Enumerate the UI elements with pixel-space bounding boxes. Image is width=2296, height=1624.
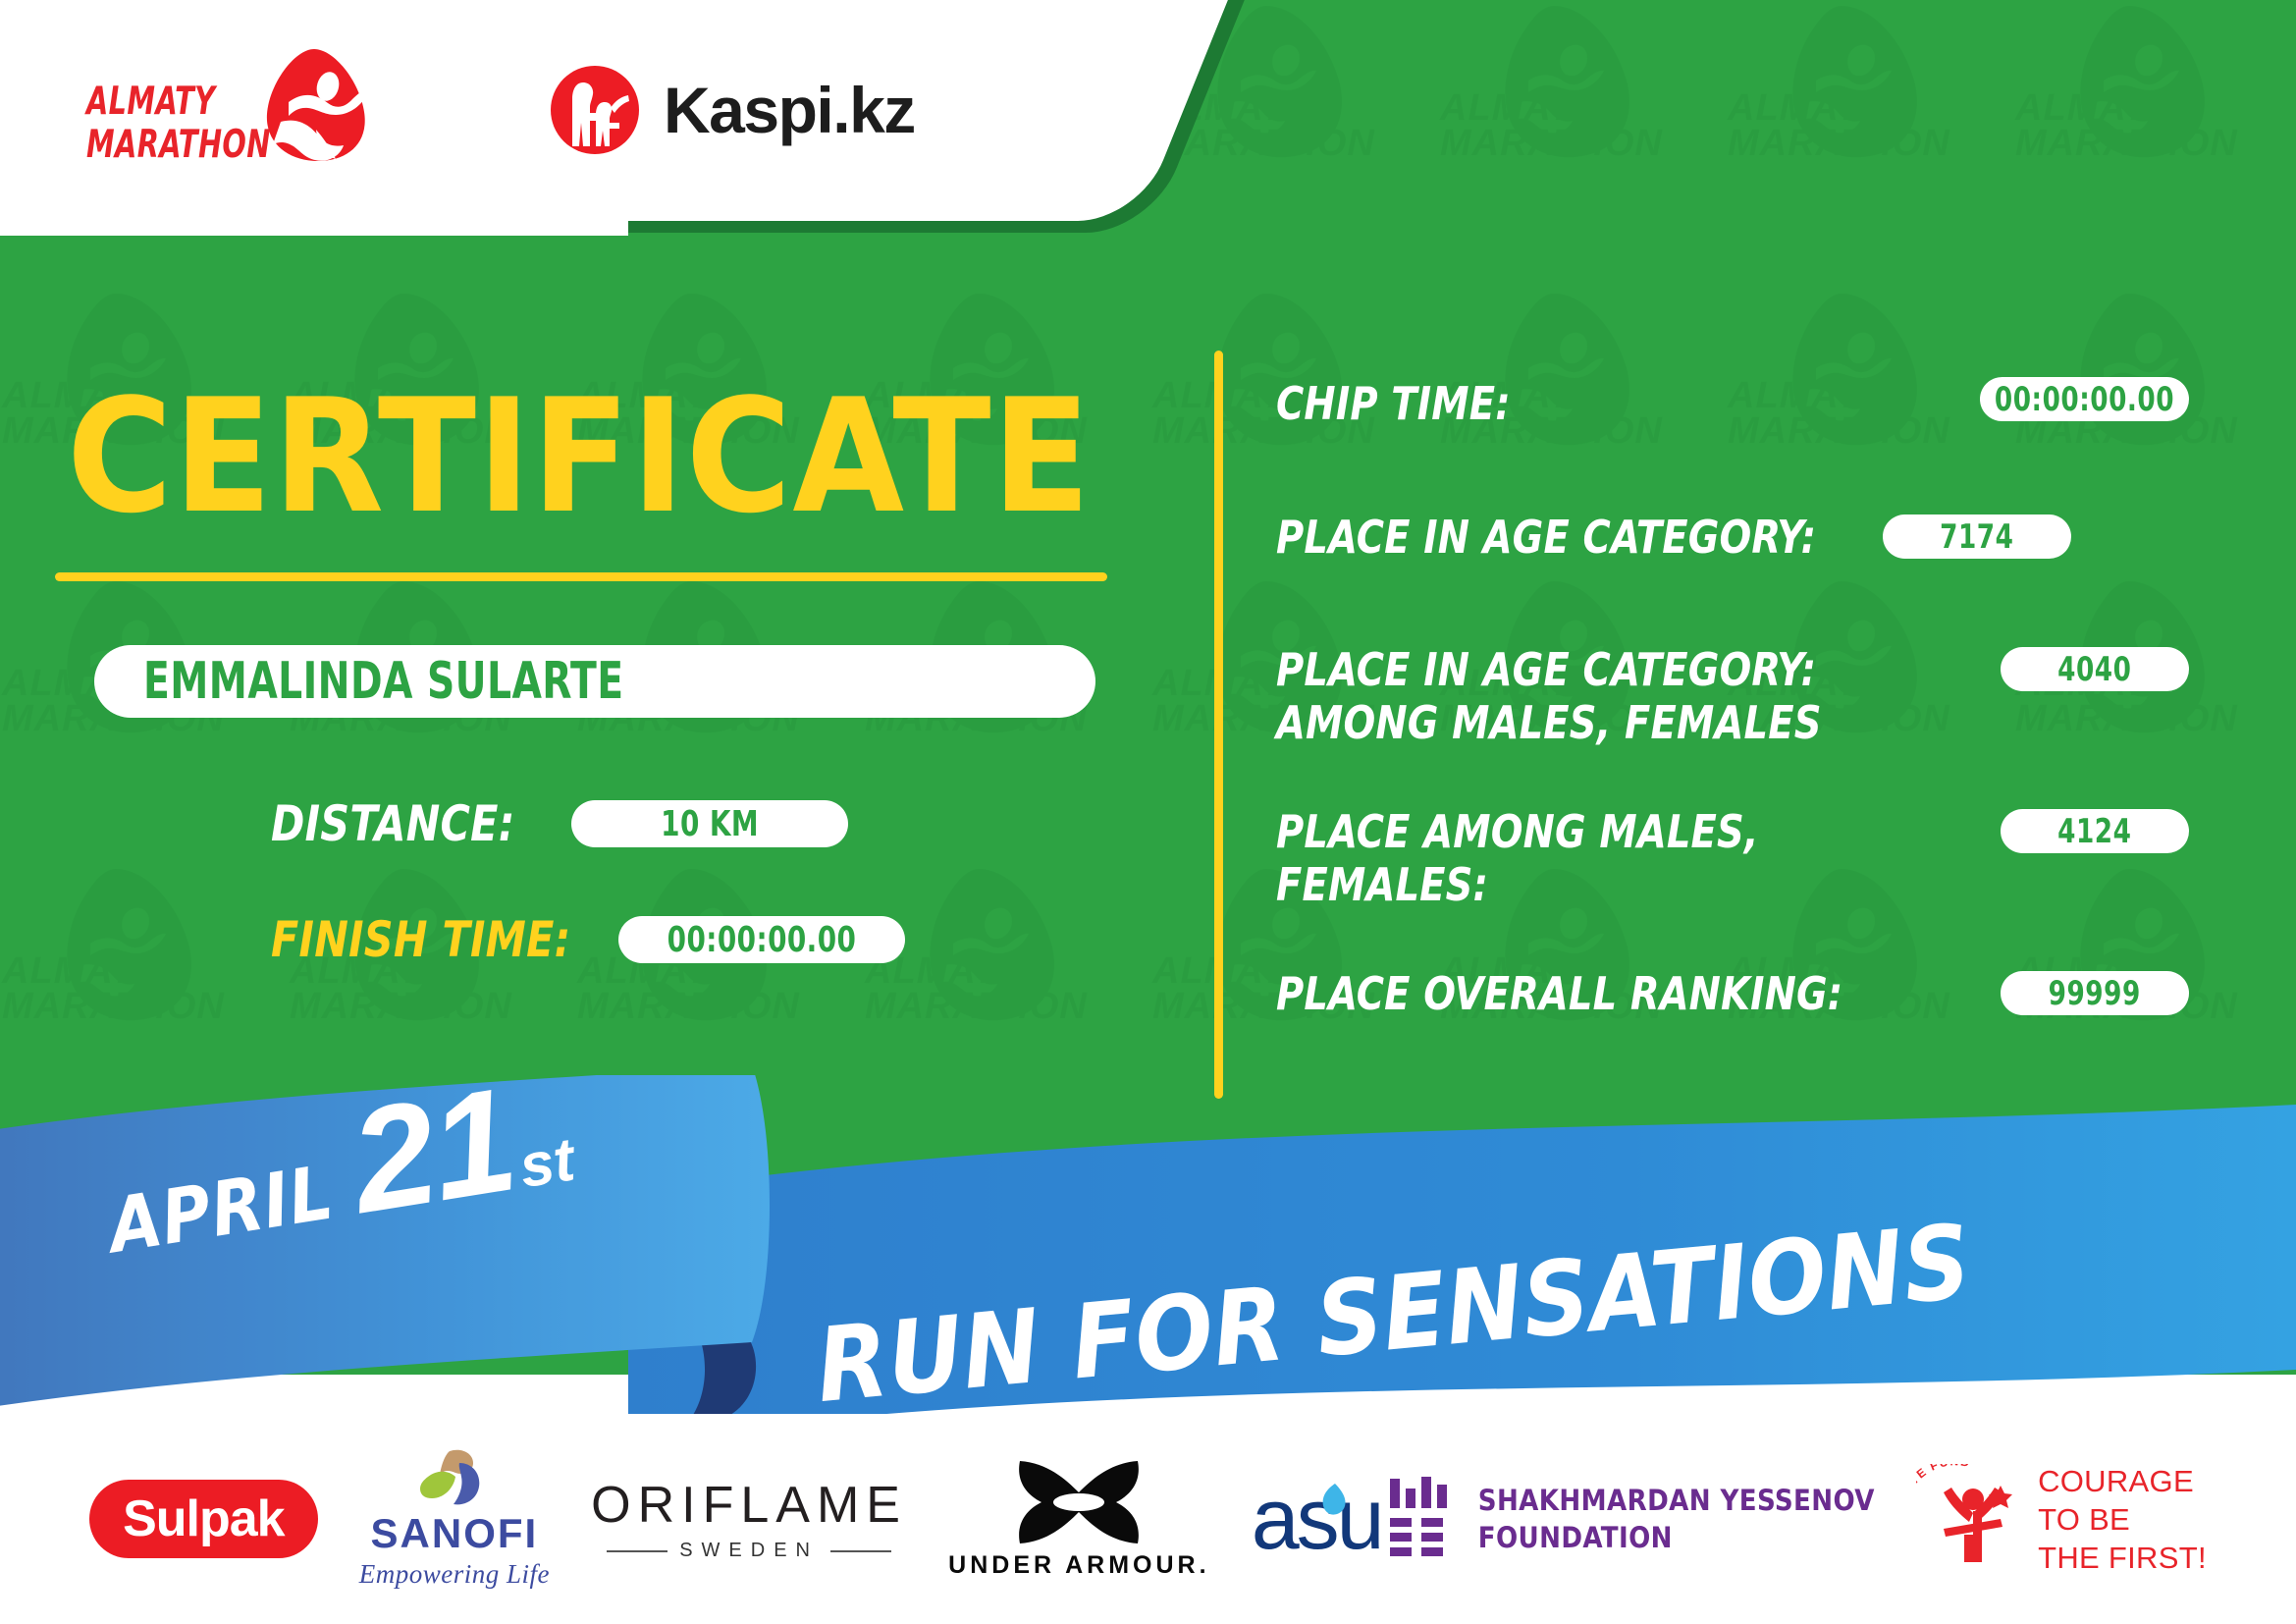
courage-wordmark: COURAGE TO BE THE FIRST! [2038, 1462, 2207, 1577]
result-value: 7174 [1940, 517, 2013, 557]
result-value: 4124 [2057, 812, 2131, 851]
almaty-marathon-logo: ALMATY MARATHON [86, 47, 371, 170]
yessenov-line2: FOUNDATION [1478, 1519, 1875, 1556]
result-value-field: 4040 [2001, 647, 2189, 691]
distance-value: 10 KM [661, 804, 759, 844]
oriflame-sub: SWEDEN [607, 1540, 891, 1562]
oriflame-sub-text: SWEDEN [679, 1540, 819, 1562]
certificate-page: ALMATY MARATHON ALMATY MARATHON [0, 0, 2296, 1624]
result-value: 99999 [2049, 974, 2141, 1013]
result-value-field: 00:00:00.00 [1980, 377, 2189, 421]
page-title: CERTIFICATE [67, 383, 1092, 530]
ribbon-ordinal: st [514, 1124, 579, 1202]
column-divider [1214, 351, 1223, 1099]
sponsor-yessenov: SHAKHMARDAN YESSENOV FOUNDATION [1388, 1477, 1875, 1561]
kaspi-people-icon [550, 65, 640, 155]
yessenov-logo: SHAKHMARDAN YESSENOV FOUNDATION [1388, 1477, 1875, 1561]
sulpak-wordmark: Sulpak [123, 1490, 285, 1547]
ribbon-day: 21 [343, 1065, 523, 1236]
distance-row: DISTANCE: 10 KM [271, 795, 848, 852]
participant-name-field: EMMALINDA SULARTE [94, 645, 1095, 718]
result-label: PLACE AMONG MALES, FEMALES: [1276, 805, 1759, 911]
result-value-field: 4124 [2001, 809, 2189, 853]
sanofi-wordmark: SANOFI [371, 1510, 539, 1557]
almaty-marathon-line1: ALMATY [86, 81, 240, 124]
asu-logo: asu [1252, 1480, 1347, 1559]
sponsor-sanofi: SANOFI Empowering Life [359, 1449, 550, 1590]
title-underline [55, 572, 1107, 581]
sponsor-sulpak: Sulpak [89, 1480, 318, 1558]
result-label: CHIP TIME: [1276, 373, 1511, 430]
courage-line1: COURAGE [2038, 1462, 2207, 1500]
sanofi-logo: SANOFI Empowering Life [359, 1449, 550, 1590]
oriflame-wordmark: ORIFLAME [591, 1476, 907, 1535]
finish-time-label: FINISH TIME: [271, 911, 570, 968]
result-row-place-among-males-females: PLACE AMONG MALES, FEMALES: 4124 [1276, 805, 2189, 911]
participant-name-value: EMMALINDA SULARTE [143, 652, 624, 711]
result-row-place-overall-ranking: PLACE OVERALL RANKING: 99999 [1276, 967, 2189, 1020]
asu-drop-icon [1321, 1484, 1347, 1522]
result-label: PLACE IN AGE CATEGORY: [1276, 511, 1816, 564]
yessenov-bars-icon [1388, 1477, 1453, 1561]
under-armour-icon [1014, 1459, 1144, 1545]
kaspi-logo: Kaspi.kz [550, 61, 933, 159]
under-armour-wordmark: UNDER ARMOUR. [948, 1551, 1209, 1580]
oriflame-rule-left [607, 1550, 667, 1552]
sponsors-bar: Sulpak SANOFI Empowering Life ORIFLAME [0, 1414, 2296, 1624]
asu-wordmark: asu [1252, 1480, 1382, 1559]
sponsor-asu: asu [1252, 1480, 1347, 1559]
result-value: 4040 [2057, 650, 2131, 689]
sponsor-courage: CORPORATE FUND COURAGE TO BE THE FIRS [1916, 1462, 2207, 1577]
result-label: PLACE OVERALL RANKING: [1276, 967, 1842, 1020]
sponsor-oriflame: ORIFLAME SWEDEN [591, 1476, 907, 1562]
result-row-chip-time: CHIP TIME: 00:00:00.00 [1276, 373, 2189, 430]
sponsor-under-armour: UNDER ARMOUR. [948, 1459, 1209, 1580]
result-label: PLACE IN AGE CATEGORY: AMONG MALES, FEMA… [1276, 643, 1822, 749]
yessenov-wordmark: SHAKHMARDAN YESSENOV FOUNDATION [1478, 1482, 1875, 1556]
under-armour-logo: UNDER ARMOUR. [948, 1459, 1209, 1580]
result-value-field: 99999 [2001, 971, 2189, 1015]
distance-label: DISTANCE: [271, 795, 515, 852]
finish-time-row: FINISH TIME: 00:00:00.00 [271, 911, 905, 968]
distance-value-field: 10 KM [571, 800, 848, 847]
header-bar: ALMATY MARATHON [0, 0, 1139, 226]
sanofi-bird-icon [420, 1449, 489, 1506]
sulpak-logo: Sulpak [89, 1480, 318, 1558]
result-row-place-age-category: PLACE IN AGE CATEGORY: 7174 [1276, 511, 2189, 564]
runner-teardrop-icon [263, 47, 366, 163]
yessenov-line1: SHAKHMARDAN YESSENOV [1478, 1482, 1875, 1519]
courage-line2: TO BE [2038, 1500, 2207, 1539]
courage-logo: CORPORATE FUND COURAGE TO BE THE FIRS [1916, 1462, 2207, 1577]
result-value: 00:00:00.00 [1995, 380, 2174, 419]
finish-time-value: 00:00:00.00 [667, 920, 857, 960]
almaty-marathon-line2: MARATHON [86, 124, 240, 167]
result-row-place-age-category-among: PLACE IN AGE CATEGORY: AMONG MALES, FEMA… [1276, 643, 2189, 749]
sanofi-tagline: Empowering Life [359, 1559, 550, 1590]
result-value-field: 7174 [1883, 514, 2071, 559]
oriflame-logo: ORIFLAME SWEDEN [591, 1476, 907, 1562]
finish-time-value-field: 00:00:00.00 [618, 916, 905, 963]
courage-runner-icon: CORPORATE FUND [1916, 1464, 2022, 1574]
courage-line3: THE FIRST! [2038, 1539, 2207, 1577]
almaty-marathon-wordmark: ALMATY MARATHON [86, 81, 240, 167]
oriflame-rule-right [830, 1550, 891, 1552]
kaspi-wordmark: Kaspi.kz [664, 78, 915, 142]
